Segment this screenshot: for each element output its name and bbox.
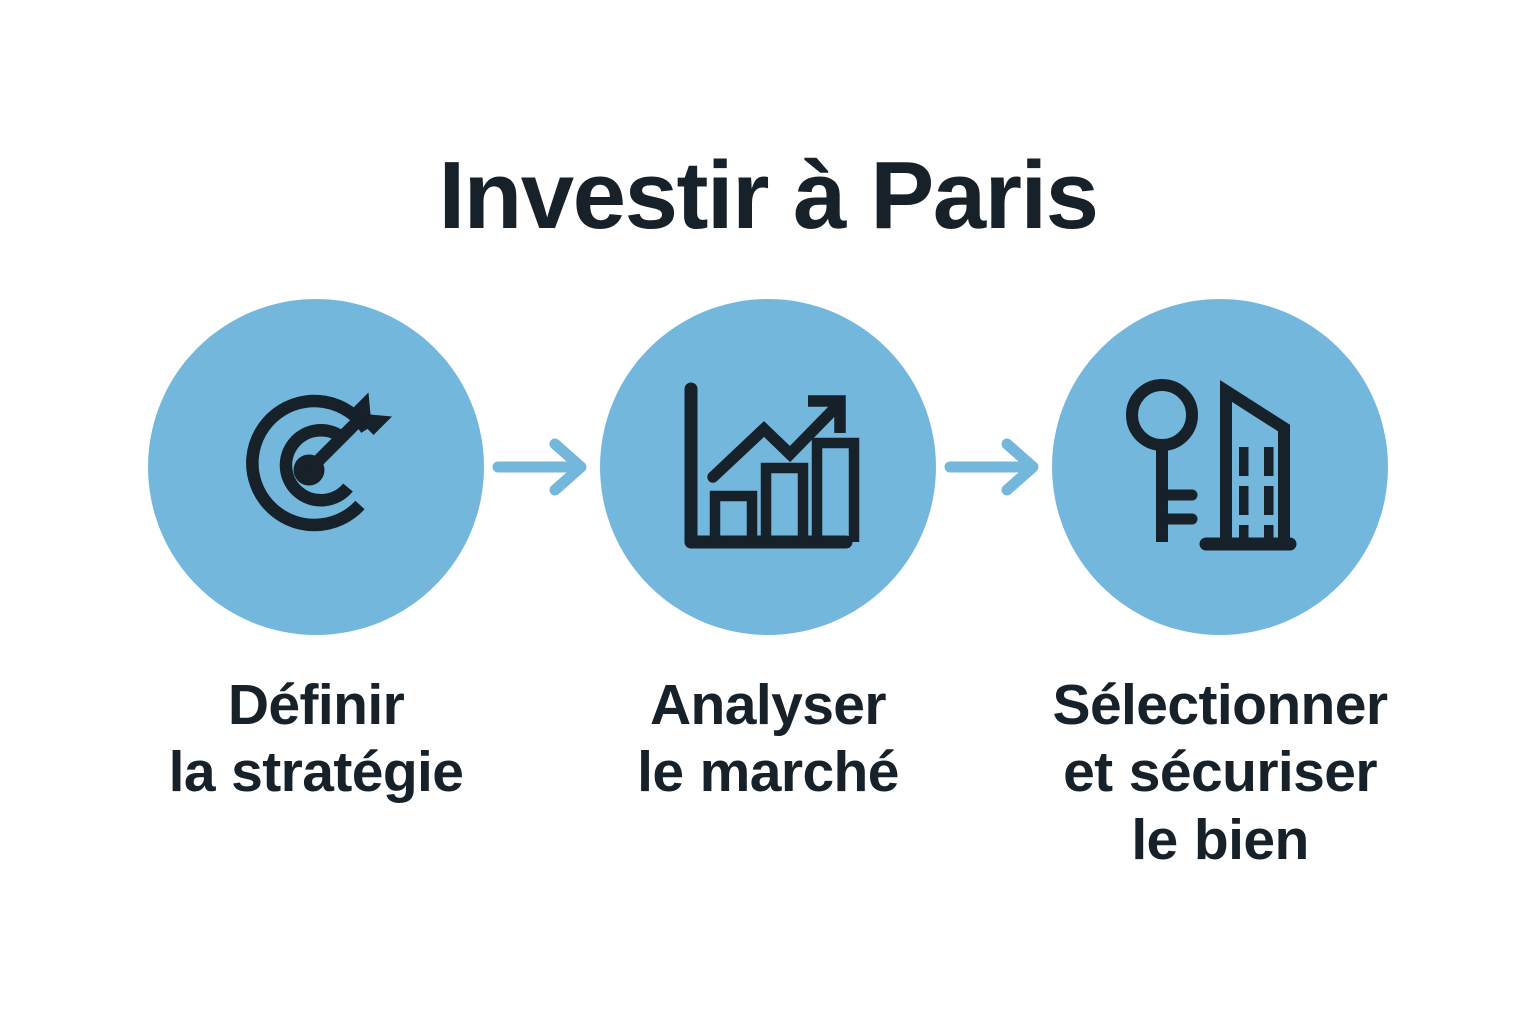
step-2-label-line-1: Analyser: [600, 672, 936, 739]
step-2-label-line-2: le marché: [600, 739, 936, 806]
bar-chart-growth-icon: [668, 367, 868, 567]
step-2-circle: [600, 299, 936, 635]
step-1-label-line-2: la stratégie: [148, 739, 484, 806]
step-3-label-line-3: le bien: [1052, 807, 1388, 874]
page-title: Investir à Paris: [0, 148, 1536, 244]
infographic-canvas: Investir à Paris: [0, 0, 1536, 1024]
step-1-label-line-1: Définir: [148, 672, 484, 739]
step-3-label-line-1: Sélectionner: [1052, 672, 1388, 739]
step-3-label: Sélectionner et sécuriser le bien: [1012, 672, 1428, 874]
connector-arrow-1: [484, 427, 600, 507]
key-building-icon: [1118, 367, 1323, 567]
connector-arrow-2: [936, 427, 1052, 507]
arrow-right-icon: [944, 436, 1044, 498]
target-arrow-icon: [216, 367, 416, 567]
labels-row: Définir la stratégie Analyser le marché …: [0, 672, 1536, 874]
step-2-label: Analyser le marché: [600, 672, 936, 807]
step-1-label: Définir la stratégie: [148, 672, 484, 807]
steps-row: [0, 297, 1536, 637]
step-3-label-line-2: et sécuriser: [1052, 739, 1388, 806]
arrow-right-icon: [492, 436, 592, 498]
step-1-circle: [148, 299, 484, 635]
step-3-circle: [1052, 299, 1388, 635]
